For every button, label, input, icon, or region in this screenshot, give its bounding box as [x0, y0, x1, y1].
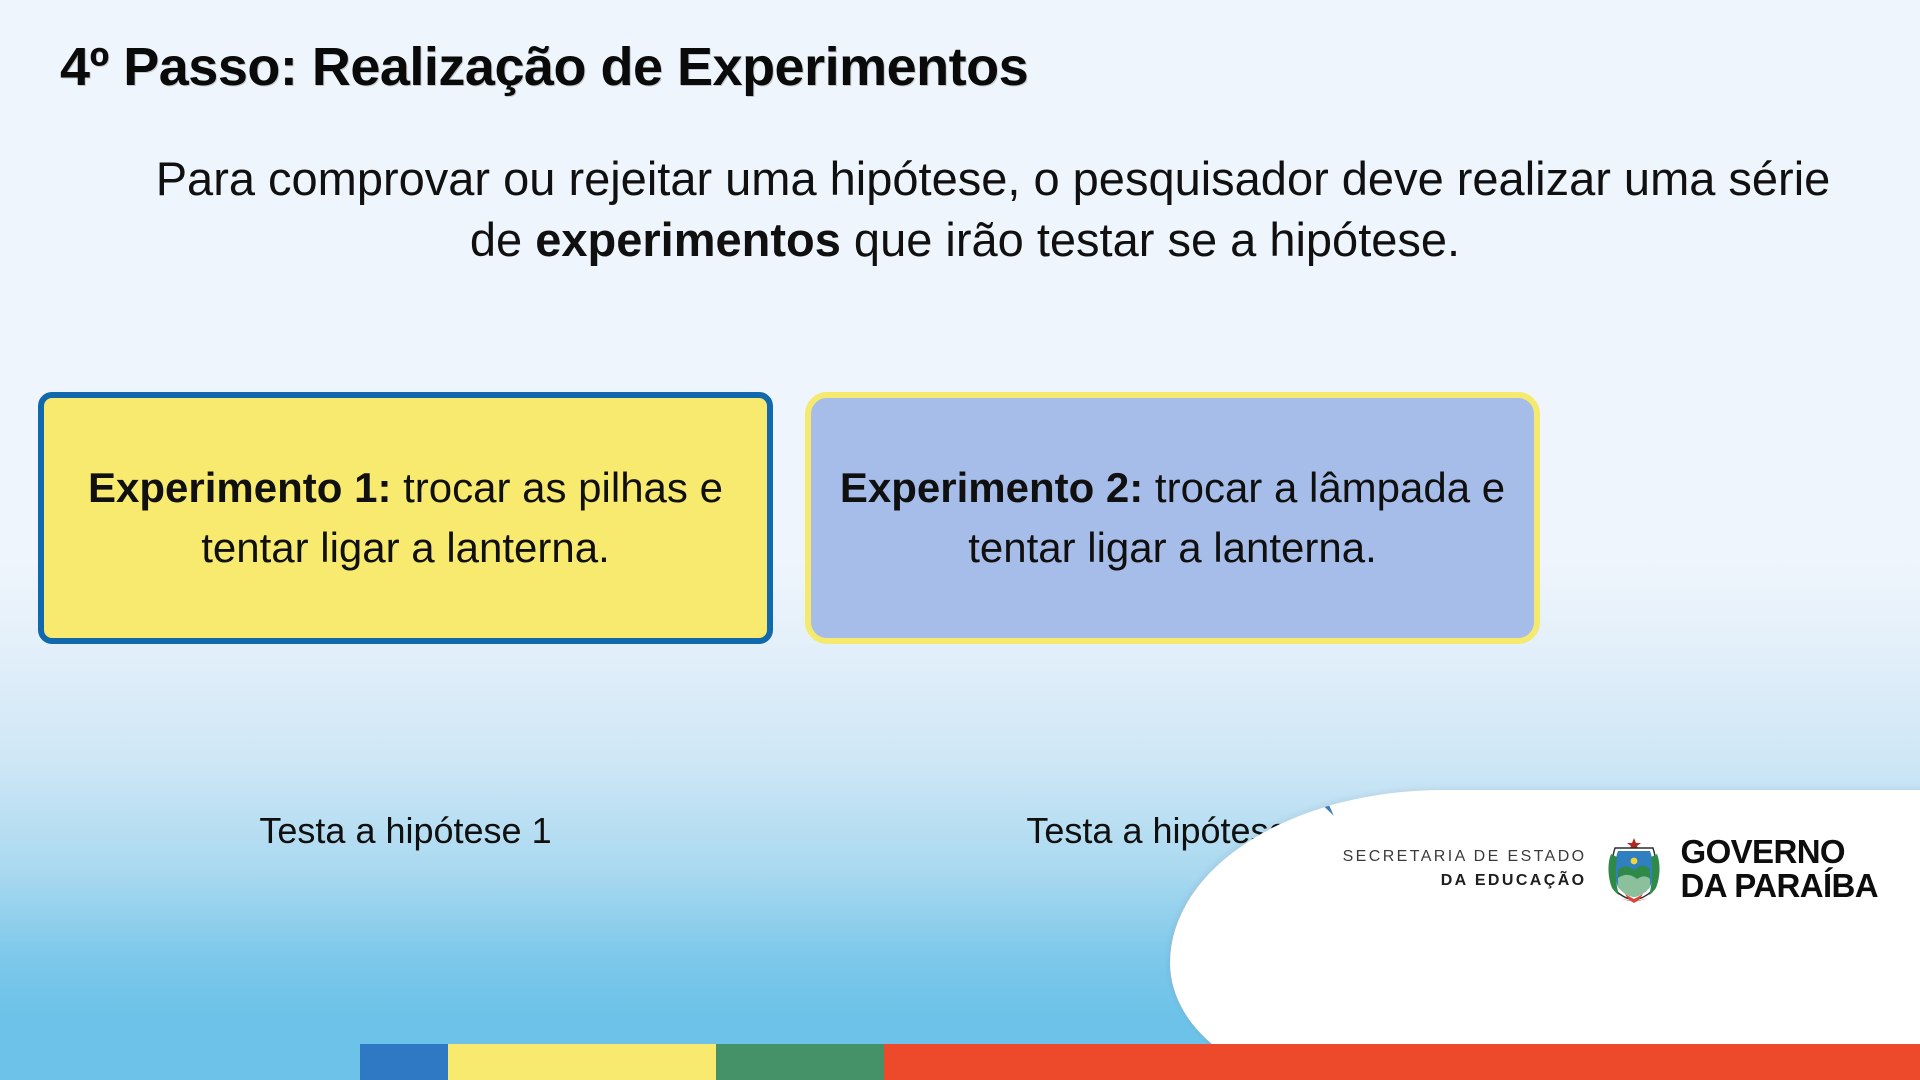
- experiment-box-2-lead: Experimento 2:: [840, 464, 1143, 511]
- color-bar-segment-cyan: [0, 1044, 360, 1080]
- secretaria-line-1: SECRETARIA DE ESTADO: [1343, 845, 1587, 869]
- footer-logo-lockup: SECRETARIA DE ESTADO DA EDUCAÇÃO GOVERNO…: [1343, 834, 1878, 904]
- color-bar-segment-red: [884, 1044, 1920, 1080]
- slide-canvas: 4º Passo: Realização de Experimentos Par…: [0, 0, 1920, 1080]
- experiment-box-1[interactable]: Experimento 1: trocar as pilhas e tentar…: [38, 392, 773, 644]
- paragraph-bold-term: experimentos: [535, 213, 841, 266]
- experiment-box-2[interactable]: Experimento 2: trocar a lâmpada e tentar…: [805, 392, 1540, 644]
- color-bar-segment-yellow: [448, 1044, 716, 1080]
- color-bar-segment-blue: [360, 1044, 448, 1080]
- governo-line-1: GOVERNO: [1681, 835, 1879, 869]
- caption-hypothesis-1: Testa a hipótese 1: [38, 810, 773, 852]
- body-paragraph: Para comprovar ou rejeitar uma hipótese,…: [70, 148, 1860, 270]
- footer-color-bar: [0, 1044, 1920, 1080]
- paraiba-coat-of-arms-icon: [1603, 834, 1665, 904]
- experiment-box-1-lead: Experimento 1:: [88, 464, 391, 511]
- page-title: 4º Passo: Realização de Experimentos: [60, 36, 1560, 98]
- governo-line-2: DA PARAÍBA: [1681, 869, 1879, 903]
- color-bar-segment-green: [716, 1044, 884, 1080]
- governo-wordmark: GOVERNO DA PARAÍBA: [1681, 835, 1879, 902]
- secretaria-line-2: DA EDUCAÇÃO: [1343, 869, 1587, 893]
- experiment-box-2-text: Experimento 2: trocar a lâmpada e tentar…: [835, 458, 1510, 577]
- experiment-box-1-text: Experimento 1: trocar as pilhas e tentar…: [68, 458, 743, 577]
- secretaria-wordmark: SECRETARIA DE ESTADO DA EDUCAÇÃO: [1343, 845, 1587, 893]
- paragraph-part2: que irão testar se a hipótese.: [841, 213, 1460, 266]
